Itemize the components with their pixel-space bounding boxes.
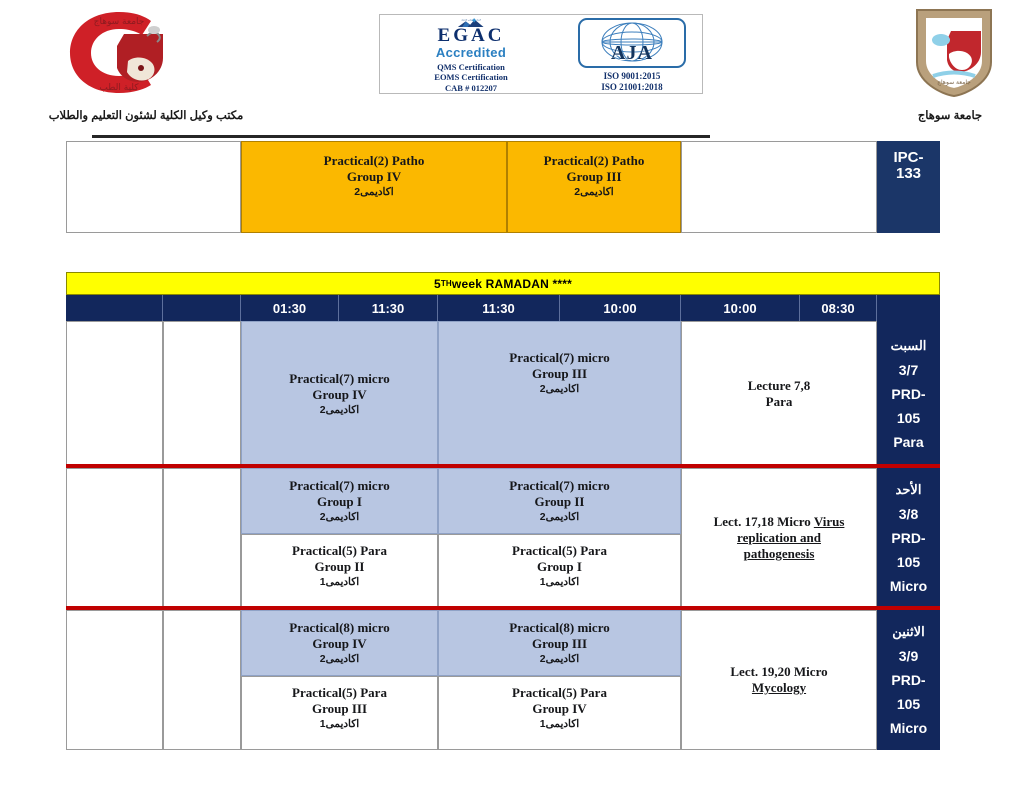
aja-line-2: ISO 21001:2018 bbox=[601, 82, 662, 93]
practical-cell: Practical(5) Para Group I اكاديمى1 bbox=[438, 534, 681, 608]
aja-iso-lines: ISO 9001:2015 ISO 21001:2018 bbox=[601, 71, 662, 93]
day-info-cell: الأحد 3/8 PRD- 105 Micro bbox=[877, 468, 940, 608]
previous-week-table: Practical(2) Patho Group IV اكاديمى2 Pra… bbox=[66, 141, 940, 233]
lecture-text-underlined: Virus bbox=[814, 514, 845, 529]
practical-group: Group IV bbox=[312, 387, 366, 403]
practical-title: Practical(2) Patho bbox=[324, 153, 425, 169]
day-name: الاثنين bbox=[892, 620, 924, 644]
top-table-practical-cell-2: Practical(2) Patho Group III اكاديمى2 bbox=[507, 141, 681, 233]
week-number: 5 bbox=[434, 277, 441, 291]
time-header-1 bbox=[163, 295, 241, 321]
lecture-line-1: Lect. 19,20 Micro bbox=[730, 664, 827, 680]
practical-group: Group III bbox=[532, 366, 587, 382]
practical-group: Group I bbox=[537, 559, 582, 575]
course-code-line-1: PRD- bbox=[891, 526, 925, 550]
practical-group: Group I bbox=[317, 494, 362, 510]
egac-accreditation: المجلس الوطني للإعتماد EGAC Accredited Q… bbox=[380, 15, 562, 93]
day-name: الأحد bbox=[896, 478, 922, 502]
lecture-line-1: Lect. 17,18 Micro Virus bbox=[714, 514, 845, 530]
practical-group: Group III bbox=[312, 701, 367, 717]
egac-certification-lines: QMS Certification EOMS Certification CAB… bbox=[434, 62, 507, 94]
practical-cell: Practical(5) Para Group III اكاديمى1 bbox=[241, 676, 438, 750]
practical-room: اكاديمى2 bbox=[320, 652, 359, 666]
course-subject: Para bbox=[893, 430, 923, 454]
practical-room: اكاديمى2 bbox=[320, 403, 359, 417]
practical-group: Group II bbox=[535, 494, 585, 510]
time-header-2: 01:30 bbox=[241, 295, 339, 321]
lecture-line-2: Para bbox=[766, 394, 793, 410]
day-date: 3/9 bbox=[899, 644, 918, 668]
practical-room: اكاديمى2 bbox=[540, 652, 579, 666]
svg-text:جامعة سوهاج: جامعة سوهاج bbox=[937, 79, 971, 86]
course-subject: Micro bbox=[890, 716, 927, 740]
practical-cell: Practical(7) micro Group I اكاديمى2 bbox=[241, 468, 438, 534]
row-empty-cell-b bbox=[163, 468, 241, 608]
lecture-line-3: pathogenesis bbox=[744, 546, 815, 562]
course-code-line-1: PRD- bbox=[891, 668, 925, 692]
practical-cell: Practical(7) micro Group III اكاديمى2 bbox=[438, 321, 681, 466]
lecture-line-2: Mycology bbox=[752, 680, 806, 696]
practical-group: Group III bbox=[532, 636, 587, 652]
aja-globe-icon: AJA bbox=[578, 18, 686, 68]
practical-room: اكاديمى2 bbox=[320, 510, 359, 524]
practical-room: اكاديمى1 bbox=[320, 717, 359, 731]
svg-text:المجلس الوطني للإعتماد: المجلس الوطني للإعتماد bbox=[461, 19, 481, 22]
practical-title: Practical(5) Para bbox=[292, 685, 387, 701]
practical-cell: Practical(7) micro Group IV اكاديمى2 bbox=[241, 321, 438, 466]
row-empty-cell-a bbox=[66, 610, 163, 750]
course-code-line-2: 133 bbox=[896, 166, 921, 182]
practical-cell: Practical(5) Para Group IV اكاديمى1 bbox=[438, 676, 681, 750]
time-header-5: 10:00 bbox=[560, 295, 681, 321]
egac-wordmark: EGAC bbox=[438, 26, 505, 46]
practical-cell: Practical(7) micro Group II اكاديمى2 bbox=[438, 468, 681, 534]
week-title-bar: 5TH week RAMADAN **** bbox=[66, 272, 940, 295]
course-code-line-1: IPC- bbox=[894, 150, 924, 166]
time-header-0 bbox=[66, 295, 163, 321]
lecture-cell: Lecture 7,8 Para bbox=[681, 321, 877, 466]
egac-line-2: EOMS Certification bbox=[434, 72, 507, 83]
practical-room: اكاديمى2 bbox=[540, 382, 579, 396]
practical-cell: Practical(8) micro Group IV اكاديمى2 bbox=[241, 610, 438, 676]
top-table-course-code: IPC- 133 bbox=[877, 141, 940, 233]
office-caption: مكتب وكيل الكلية لشئون التعليم والطلاب bbox=[36, 108, 256, 122]
lecture-line-2: replication and bbox=[737, 530, 821, 546]
practical-group: Group IV bbox=[347, 169, 401, 185]
practical-room: اكاديمى2 bbox=[354, 185, 393, 199]
egac-accredited-label: Accredited bbox=[436, 46, 506, 60]
accreditation-badge: المجلس الوطني للإعتماد EGAC Accredited Q… bbox=[379, 14, 703, 94]
row-empty-cell-b bbox=[163, 321, 241, 466]
time-header-6: 10:00 bbox=[681, 295, 800, 321]
aja-line-1: ISO 9001:2015 bbox=[601, 71, 662, 82]
top-table-practical-cell-1: Practical(2) Patho Group IV اكاديمى2 bbox=[241, 141, 507, 233]
practical-group: Group III bbox=[566, 169, 621, 185]
course-subject: Micro bbox=[890, 574, 927, 598]
lecture-cell: Lect. 17,18 Micro Virus replication and … bbox=[681, 468, 877, 608]
page-header: جامعة سوهاج كلية الطب المجلس الوطني للإع… bbox=[0, 0, 1024, 135]
row-empty-cell-a bbox=[66, 321, 163, 466]
sohag-university-crest: جامعة سوهاج bbox=[905, 4, 1003, 100]
practical-room: اكاديمى1 bbox=[540, 717, 579, 731]
course-code-line-1: PRD- bbox=[891, 382, 925, 406]
svg-text:جامعة سوهاج: جامعة سوهاج bbox=[94, 17, 145, 27]
practical-title: Practical(5) Para bbox=[292, 543, 387, 559]
row-empty-cell-b bbox=[163, 610, 241, 750]
practical-title: Practical(7) micro bbox=[509, 478, 609, 494]
time-header-7: 08:30 bbox=[800, 295, 877, 321]
day-name: السبت bbox=[891, 334, 927, 358]
practical-group: Group II bbox=[315, 559, 365, 575]
day-date: 3/8 bbox=[899, 502, 918, 526]
egac-line-3: CAB # 012207 bbox=[434, 83, 507, 94]
practical-room: اكاديمى1 bbox=[320, 575, 359, 589]
week-title-rest: week RAMADAN **** bbox=[452, 277, 572, 291]
top-table-empty-cell-right bbox=[681, 141, 877, 233]
course-code-line-2: 105 bbox=[897, 406, 920, 430]
time-header-day-column bbox=[877, 295, 940, 321]
practical-cell: Practical(5) Para Group II اكاديمى1 bbox=[241, 534, 438, 608]
row-empty-cell-a bbox=[66, 468, 163, 608]
day-date: 3/7 bbox=[899, 358, 918, 382]
practical-title: Practical(8) micro bbox=[509, 620, 609, 636]
practical-room: اكاديمى2 bbox=[574, 185, 613, 199]
practical-room: اكاديمى2 bbox=[540, 510, 579, 524]
practical-title: Practical(7) micro bbox=[509, 350, 609, 366]
course-code-line-2: 105 bbox=[897, 692, 920, 716]
practical-title: Practical(7) micro bbox=[289, 478, 389, 494]
lecture-text-plain: Lect. 17,18 Micro bbox=[714, 514, 814, 529]
table-top-rule bbox=[92, 135, 710, 138]
sohag-faculty-of-medicine-logo: جامعة سوهاج كلية الطب bbox=[62, 6, 177, 98]
time-header-row: 01:30 11:30 11:30 10:00 10:00 08:30 bbox=[66, 295, 940, 321]
day-info-cell: الاثنين 3/9 PRD- 105 Micro bbox=[877, 610, 940, 750]
top-table-empty-cell-left bbox=[66, 141, 241, 233]
aja-certification: AJA ISO 9001:2015 ISO 21001:2018 bbox=[562, 15, 702, 93]
practical-title: Practical(7) micro bbox=[289, 371, 389, 387]
egac-line-1: QMS Certification bbox=[434, 62, 507, 73]
course-code-line-2: 105 bbox=[897, 550, 920, 574]
university-caption: جامعة سوهاج bbox=[890, 108, 1010, 122]
practical-title: Practical(8) micro bbox=[289, 620, 389, 636]
practical-title: Practical(2) Patho bbox=[544, 153, 645, 169]
practical-room: اكاديمى1 bbox=[540, 575, 579, 589]
practical-cell: Practical(8) micro Group III اكاديمى2 bbox=[438, 610, 681, 676]
practical-title: Practical(5) Para bbox=[512, 685, 607, 701]
practical-title: Practical(5) Para bbox=[512, 543, 607, 559]
time-header-3: 11:30 bbox=[339, 295, 438, 321]
aja-wordmark: AJA bbox=[580, 42, 684, 65]
svg-text:كلية الطب: كلية الطب bbox=[99, 83, 139, 93]
practical-group: Group IV bbox=[312, 636, 366, 652]
lecture-line-1: Lecture 7,8 bbox=[748, 378, 811, 394]
day-info-cell: السبت 3/7 PRD- 105 Para bbox=[877, 321, 940, 466]
lecture-cell: Lect. 19,20 Micro Mycology bbox=[681, 610, 877, 750]
week-ordinal-suffix: TH bbox=[441, 279, 452, 288]
practical-group: Group IV bbox=[532, 701, 586, 717]
time-header-4: 11:30 bbox=[438, 295, 560, 321]
